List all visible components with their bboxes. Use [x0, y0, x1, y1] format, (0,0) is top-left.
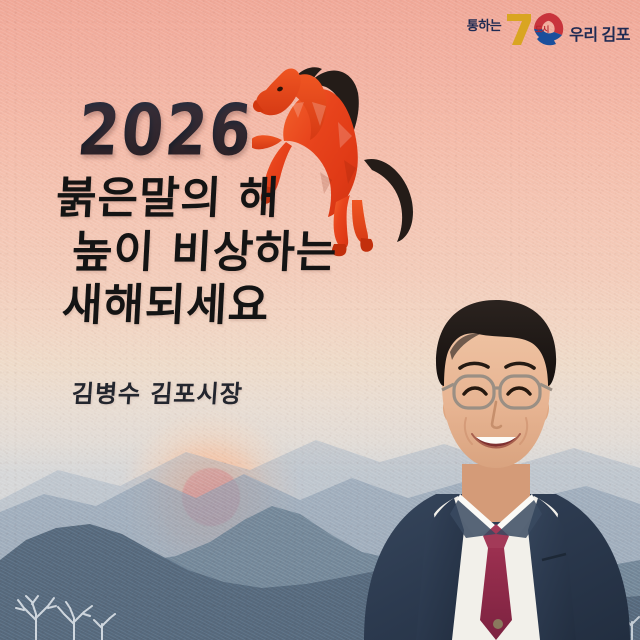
suit-button — [493, 619, 503, 629]
headline-line-3: 새해되세요 — [61, 279, 382, 333]
logo-inner-label: 도시 — [535, 24, 549, 35]
headline-line-1: 붉은말의 해 — [55, 172, 382, 226]
year-heading: 2026 — [74, 90, 256, 173]
city-logo: 통하는 도시 우리 김포 — [467, 8, 630, 50]
headline-block: 붉은말의 해 높이 비상하는 새해되세요 — [50, 172, 380, 333]
signature-text: 김병수 김포시장 — [71, 374, 244, 409]
logo-suffix-text: 우리 김포 — [569, 21, 630, 45]
logo-prefix-text: 통하는 — [467, 15, 501, 34]
logo-70-mark: 도시 — [504, 9, 566, 49]
headline-line-2: 높이 비상하는 — [71, 226, 382, 280]
mayor-portrait — [346, 268, 640, 640]
greeting-card: 2026 붉은말의 해 높이 비상하는 새해되세요 김병수 김포시장 통하는 도… — [0, 0, 640, 640]
